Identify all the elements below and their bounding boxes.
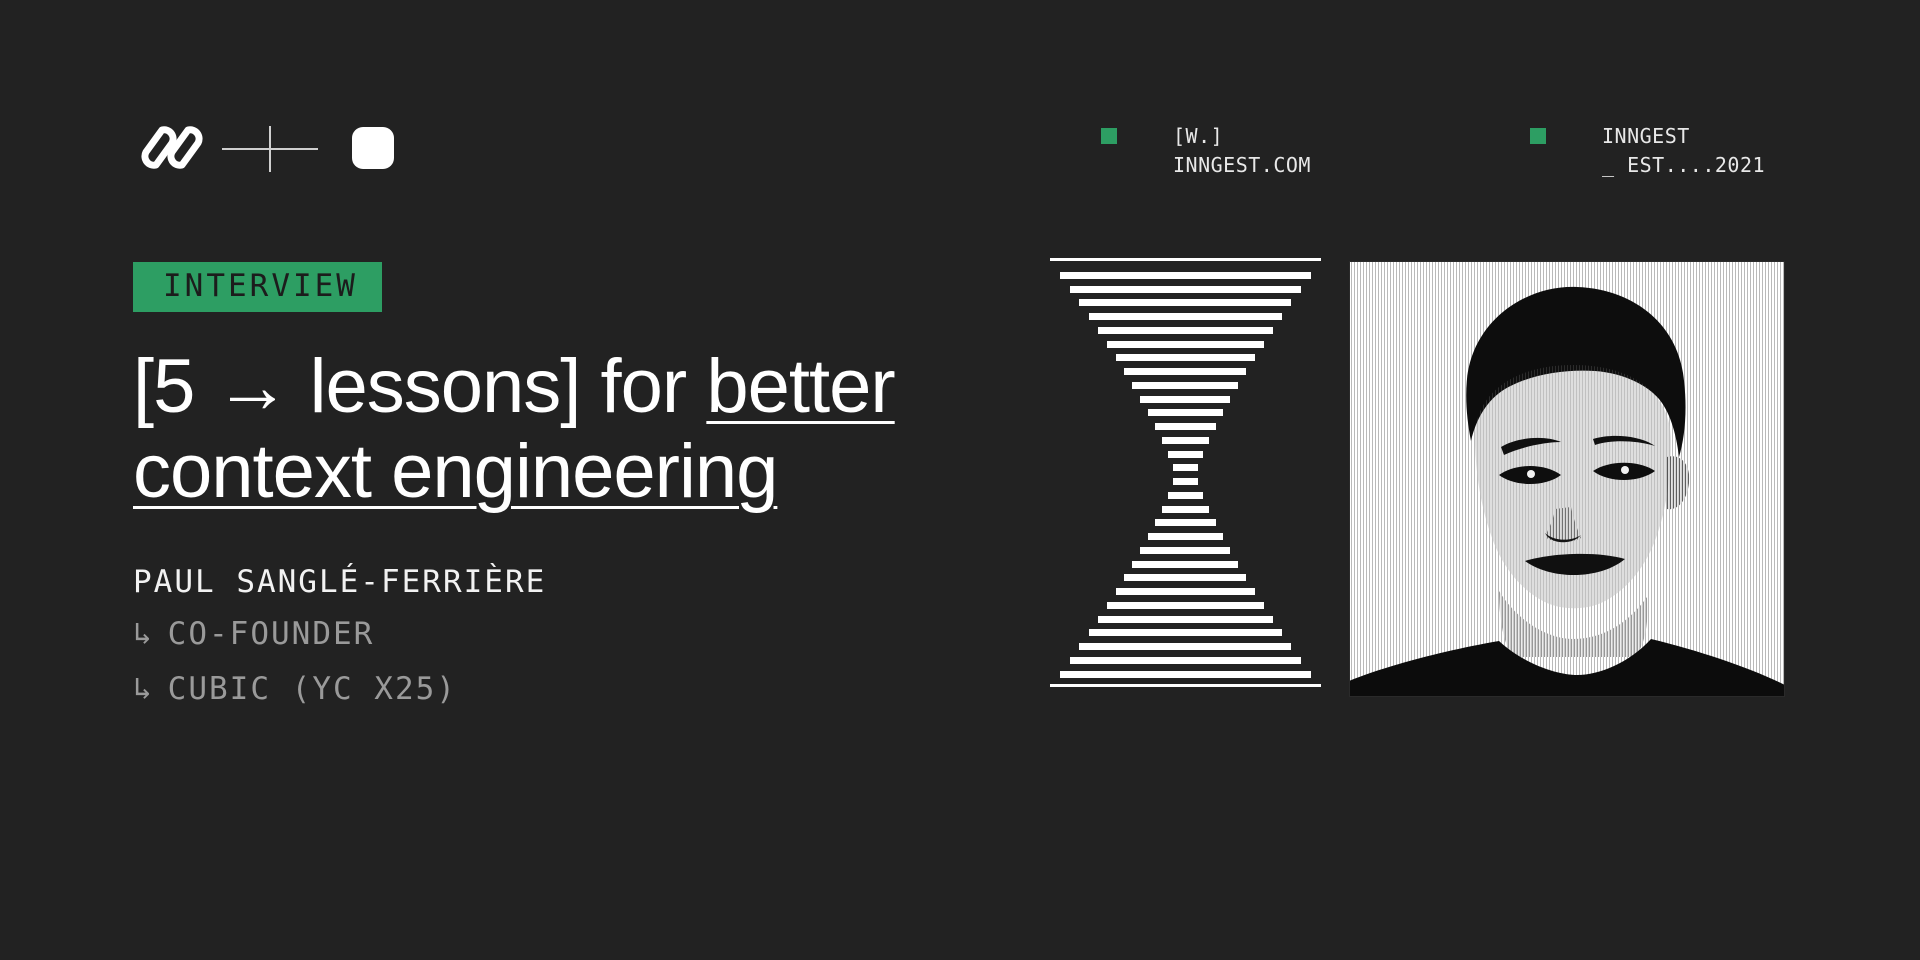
hourglass-bar: [1116, 588, 1255, 595]
hourglass-bar: [1173, 464, 1198, 471]
hourglass-bar: [1168, 492, 1203, 499]
hourglass-bar: [1060, 272, 1311, 279]
headline-underlined-1: better: [706, 344, 894, 429]
portrait-silhouette: [1349, 261, 1785, 697]
ear: [1667, 456, 1689, 509]
hourglass-bar: [1162, 506, 1209, 513]
hourglass-bar: [1155, 519, 1216, 526]
header: [W.]INNGEST.COM INNGEST_ EST....2021: [0, 0, 1920, 200]
left-eye-highlight: [1527, 470, 1535, 478]
arrow-marker-icon: ↳: [133, 616, 154, 652]
hourglass-bar: [1168, 451, 1203, 458]
hourglass-bar: [1116, 354, 1255, 361]
hourglass-bar: [1148, 533, 1223, 540]
hourglass-bar: [1132, 382, 1238, 389]
speaker-name: PAUL SANGLÉ-FERRIÈRE: [133, 564, 973, 601]
headline-underlined-2: context engineering: [133, 429, 777, 514]
page-title: [5 → lessons] for bettercontext engineer…: [133, 344, 973, 514]
speaker-company: ↳CUBIC (YC X25): [133, 669, 973, 711]
hourglass-bar: [1124, 368, 1246, 375]
speaker-role-text: CO-FOUNDER: [168, 616, 375, 652]
right-eye-highlight: [1621, 466, 1629, 474]
hourglass-bar: [1107, 341, 1264, 348]
green-square-icon: [1101, 128, 1117, 144]
poster-canvas: [W.]INNGEST.COM INNGEST_ EST....2021 INT…: [0, 0, 1920, 960]
hourglass-bar: [1098, 327, 1273, 334]
hourglass-bar: [1132, 561, 1238, 568]
green-square-icon: [1530, 128, 1546, 144]
meta-brand: INNGEST_ EST....2021: [1530, 122, 1765, 180]
hourglass-bar: [1070, 286, 1301, 293]
hourglass-bars-graphic: [1045, 258, 1326, 698]
hourglass-bar: [1050, 684, 1321, 687]
arrow-marker-icon: ↳: [133, 671, 154, 707]
hourglass-bar: [1140, 547, 1230, 554]
category-badge: INTERVIEW: [133, 262, 382, 312]
hourglass-bar: [1050, 258, 1321, 261]
hourglass-bar: [1107, 602, 1264, 609]
meta-brand-line2: _ EST....2021: [1602, 153, 1765, 177]
headline-part-1: [5 → lessons] for: [133, 344, 706, 429]
meta-brand-text: INNGEST_ EST....2021: [1602, 122, 1765, 180]
halftone-portrait: [1349, 261, 1785, 697]
meta-website-line1: [W.]: [1173, 124, 1223, 148]
hourglass-bar: [1060, 671, 1311, 678]
hourglass-bar: [1124, 574, 1246, 581]
meta-brand-line1: INNGEST: [1602, 124, 1690, 148]
hourglass-bar: [1140, 396, 1230, 403]
vertical-divider-line: [269, 126, 271, 172]
hourglass-bar: [1173, 478, 1198, 485]
hourglass-bar: [1079, 643, 1291, 650]
content-column: INTERVIEW [5 → lessons] for bettercontex…: [133, 262, 973, 711]
rounded-square-mark: [352, 127, 394, 169]
speaker-company-text: CUBIC (YC X25): [168, 671, 457, 707]
hourglass-bar: [1162, 437, 1209, 444]
meta-website-line2: INNGEST.COM: [1173, 153, 1311, 177]
hourglass-bar: [1098, 616, 1273, 623]
meta-website-text: [W.]INNGEST.COM: [1173, 122, 1311, 180]
hourglass-bar: [1148, 409, 1223, 416]
hourglass-bar: [1070, 657, 1301, 664]
hourglass-bar: [1089, 313, 1282, 320]
inngest-logo[interactable]: [132, 122, 204, 174]
hourglass-bar: [1079, 299, 1291, 306]
meta-website: [W.]INNGEST.COM: [1101, 122, 1311, 180]
speaker-role: ↳CO-FOUNDER: [133, 614, 973, 656]
hourglass-bar: [1155, 423, 1216, 430]
hourglass-bar: [1089, 629, 1282, 636]
